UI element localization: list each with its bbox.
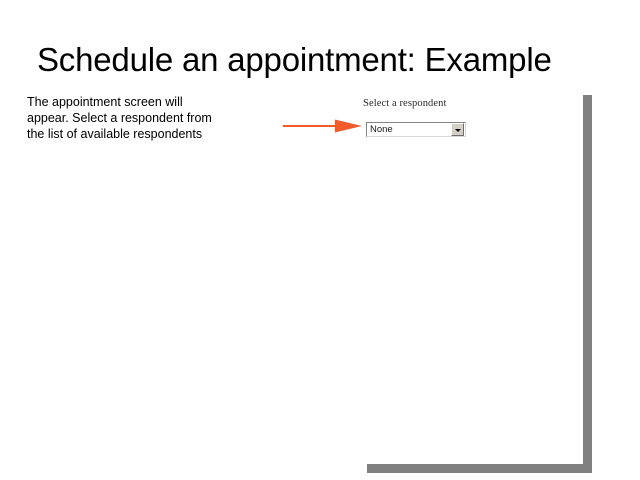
frame-shadow-right [583,95,592,464]
respondent-field-label: Select a respondent [363,98,447,109]
body-text-line: The appointment screen will [27,94,257,110]
body-text-block: The appointment screen will appear. Sele… [27,94,257,142]
respondent-select-value: None [367,123,451,136]
page-title: Schedule an appointment: Example [37,41,552,79]
frame-shadow-bottom [367,464,592,473]
respondent-select[interactable]: None [366,122,466,137]
body-text-line: the list of available respondents [27,126,257,142]
slide-canvas: Schedule an appointment: Example The app… [0,0,640,480]
arrow-right-icon [283,118,363,134]
chevron-down-icon[interactable] [451,123,464,136]
body-text-line: appear. Select a respondent from [27,110,257,126]
